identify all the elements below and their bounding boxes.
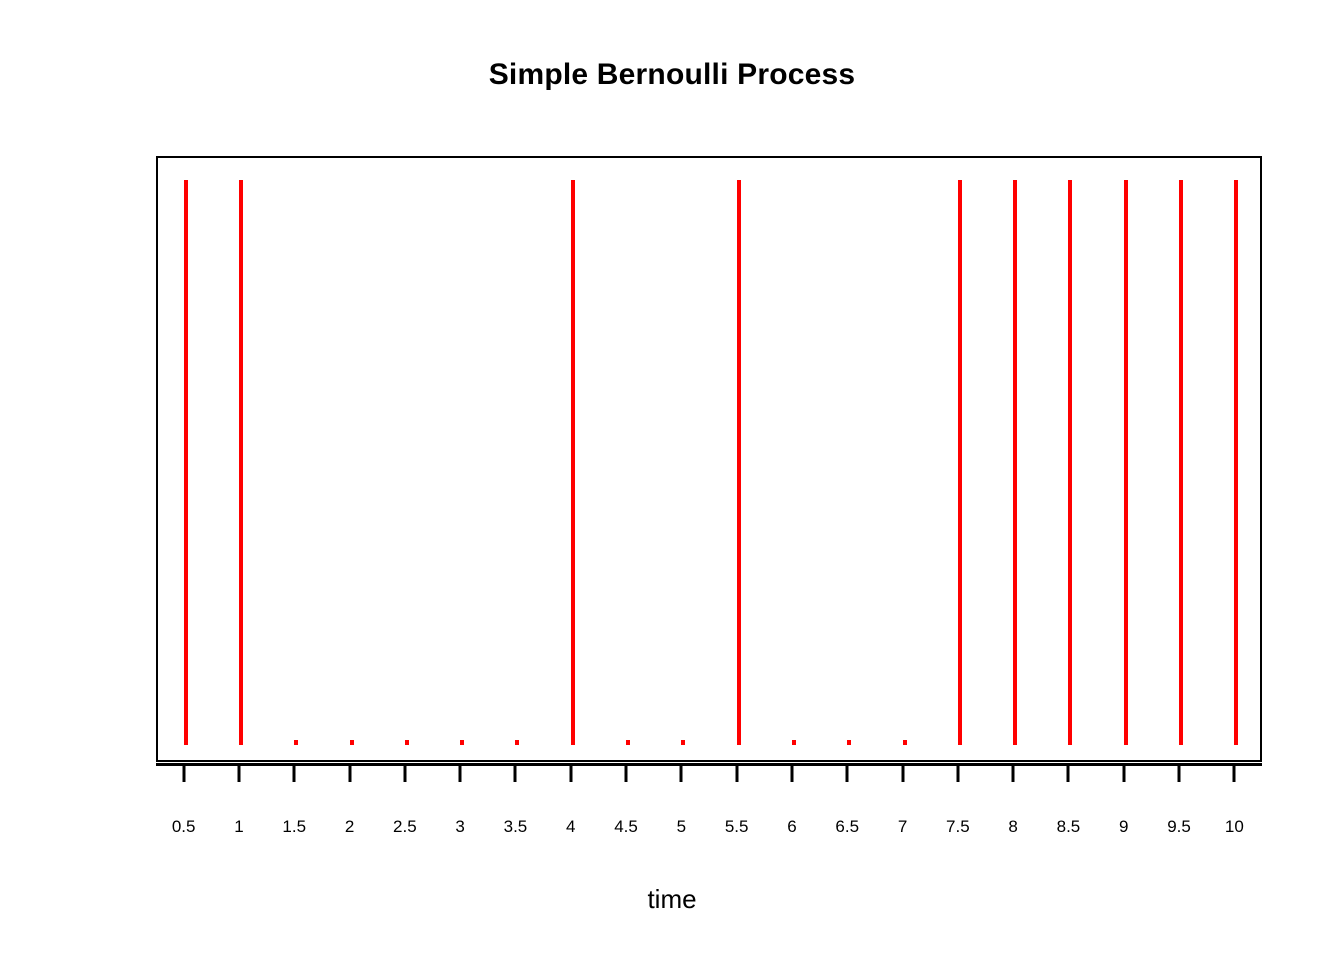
- x-axis-tick: [237, 766, 240, 782]
- x-axis-tick-label: 0.5: [172, 818, 196, 835]
- x-axis-tick-label: 2: [345, 818, 354, 835]
- data-spike-success: [1068, 180, 1072, 745]
- x-axis-tick: [569, 766, 572, 782]
- x-axis-tick-label: 3: [455, 818, 464, 835]
- x-axis-tick-label: 5.5: [725, 818, 749, 835]
- data-spike-success: [1013, 180, 1017, 745]
- x-axis-tick-label: 2.5: [393, 818, 417, 835]
- x-axis-tick-label: 9: [1119, 818, 1128, 835]
- x-axis-tick-label: 4: [566, 818, 575, 835]
- x-axis-tick-label: 6.5: [835, 818, 859, 835]
- data-spike-success: [1234, 180, 1238, 745]
- x-axis-tick: [1012, 766, 1015, 782]
- plot-area: [158, 158, 1260, 760]
- x-axis-tick: [182, 766, 185, 782]
- x-axis-tick: [901, 766, 904, 782]
- data-spike-failure: [626, 740, 630, 745]
- x-axis-tick: [293, 766, 296, 782]
- x-axis-tick: [459, 766, 462, 782]
- data-spike-failure: [681, 740, 685, 745]
- x-axis-tick-label: 7.5: [946, 818, 970, 835]
- data-spike-success: [184, 180, 188, 745]
- x-axis-tick: [348, 766, 351, 782]
- x-axis-tick: [956, 766, 959, 782]
- data-spike-failure: [405, 740, 409, 745]
- data-spike-success: [239, 180, 243, 745]
- data-spike-failure: [792, 740, 796, 745]
- data-spike-failure: [515, 740, 519, 745]
- x-axis-tick: [846, 766, 849, 782]
- x-axis-tick: [1067, 766, 1070, 782]
- chart-title: Simple Bernoulli Process: [0, 58, 1344, 92]
- x-axis-tick: [514, 766, 517, 782]
- data-spike-success: [571, 180, 575, 745]
- data-spike-failure: [294, 740, 298, 745]
- data-spike-failure: [350, 740, 354, 745]
- x-axis-tick: [790, 766, 793, 782]
- x-axis-tick: [403, 766, 406, 782]
- data-spike-failure: [847, 740, 851, 745]
- data-spike-success: [958, 180, 962, 745]
- x-axis-tick: [1178, 766, 1181, 782]
- plot-frame: [156, 156, 1262, 762]
- x-axis-title: time: [0, 884, 1344, 915]
- x-axis-tick-label: 1: [234, 818, 243, 835]
- x-axis-tick-label: 9.5: [1167, 818, 1191, 835]
- x-axis: 0.511.522.533.544.555.566.577.588.599.51…: [156, 763, 1262, 766]
- x-axis-tick: [680, 766, 683, 782]
- x-axis-tick-label: 1.5: [282, 818, 306, 835]
- data-spike-success: [1179, 180, 1183, 745]
- x-axis-tick: [1122, 766, 1125, 782]
- x-axis-tick-label: 3.5: [504, 818, 528, 835]
- data-spike-failure: [903, 740, 907, 745]
- x-axis-tick: [1233, 766, 1236, 782]
- x-axis-tick-label: 4.5: [614, 818, 638, 835]
- x-axis-tick-label: 8.5: [1057, 818, 1081, 835]
- data-spike-success: [1124, 180, 1128, 745]
- x-axis-tick-label: 6: [787, 818, 796, 835]
- x-axis-tick-label: 5: [677, 818, 686, 835]
- x-axis-tick: [735, 766, 738, 782]
- x-axis-tick-label: 7: [898, 818, 907, 835]
- data-spike-failure: [460, 740, 464, 745]
- x-axis-tick: [625, 766, 628, 782]
- x-axis-tick-label: 10: [1225, 818, 1244, 835]
- data-spike-success: [737, 180, 741, 745]
- x-axis-tick-label: 8: [1008, 818, 1017, 835]
